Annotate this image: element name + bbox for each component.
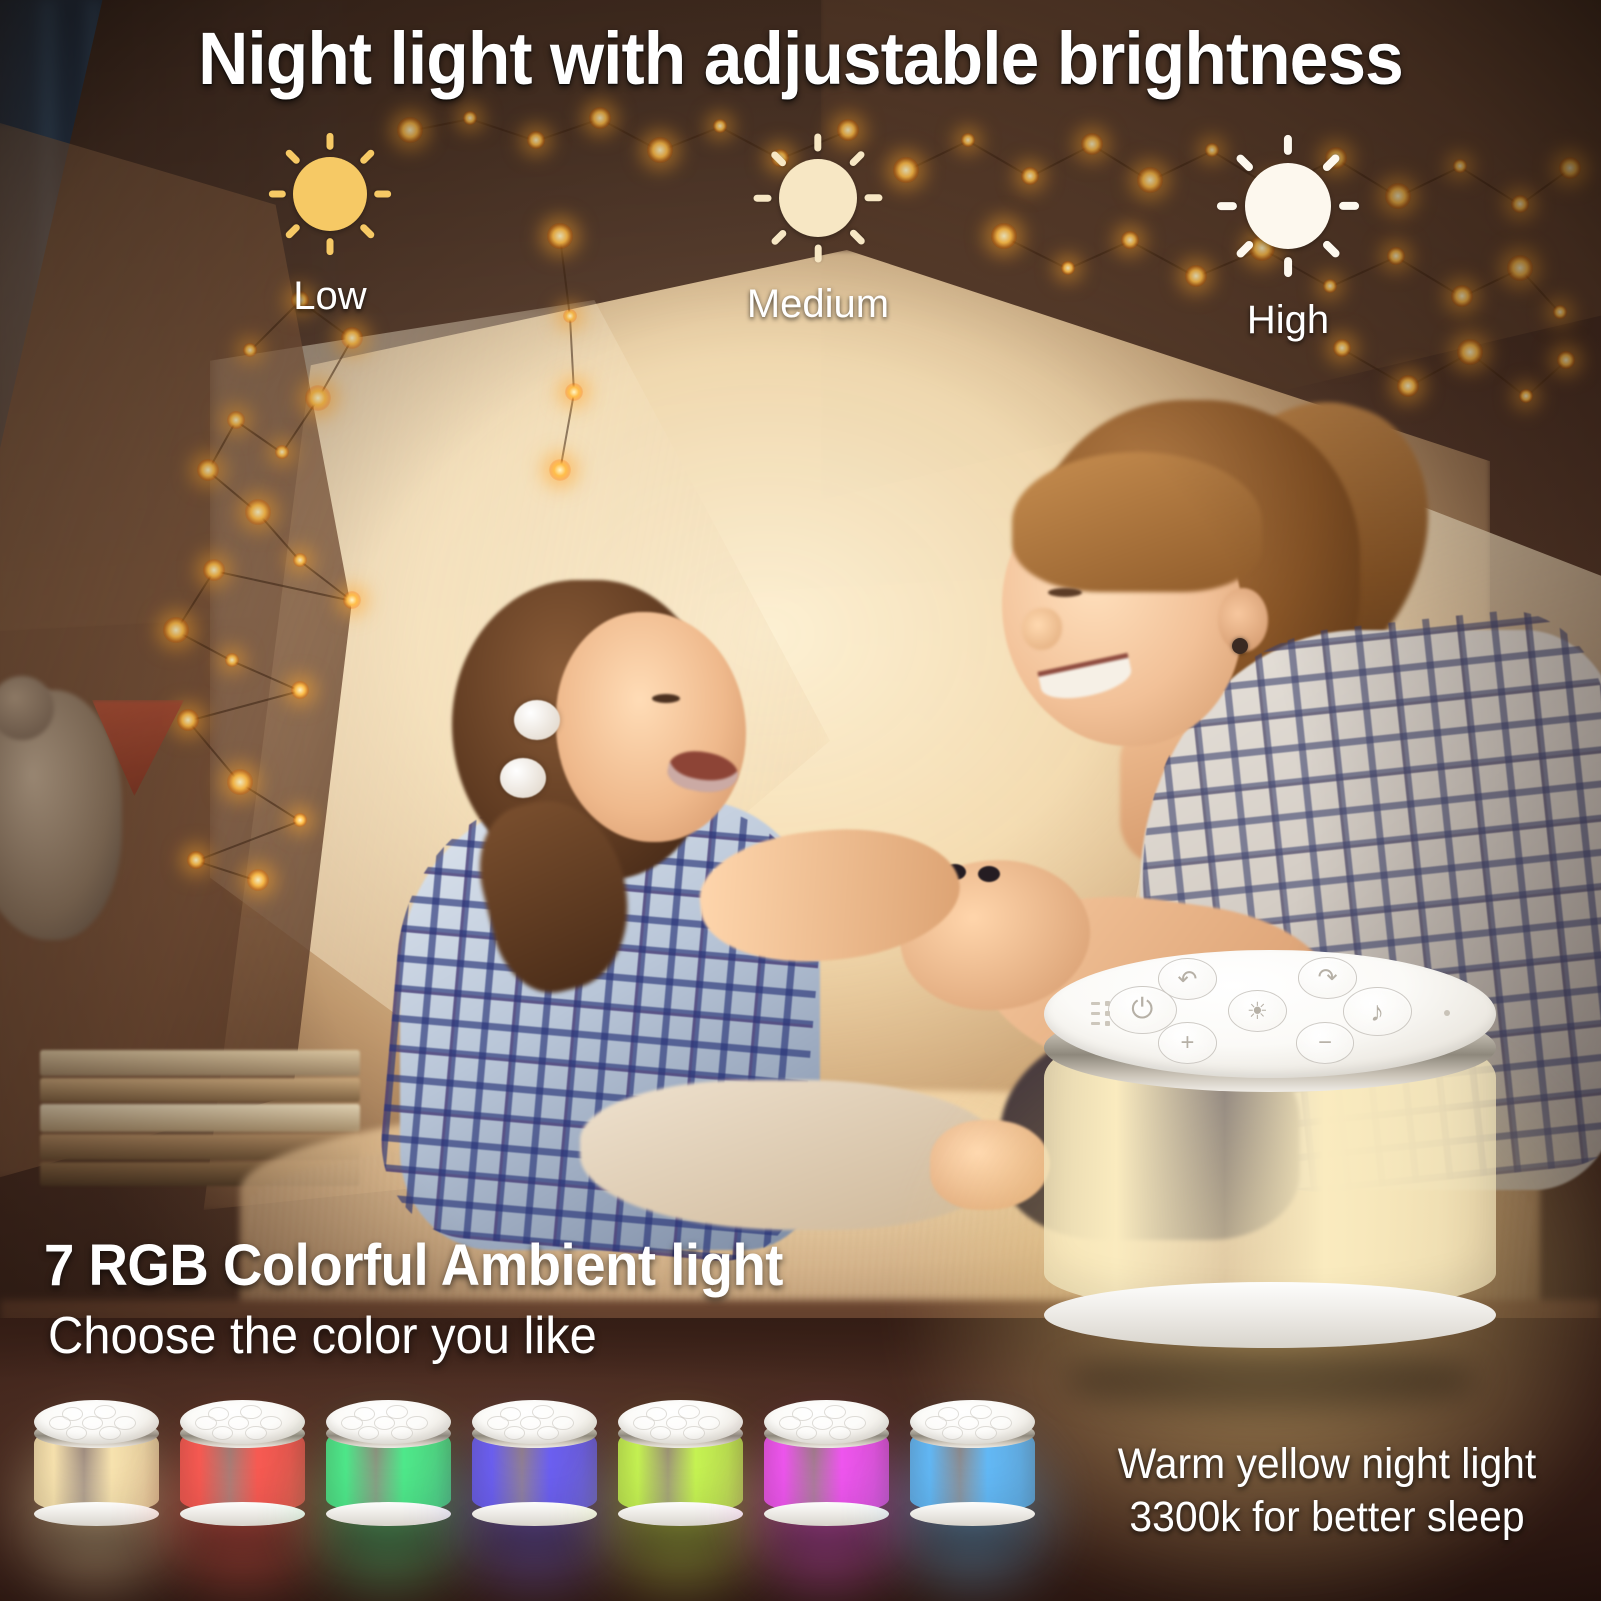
night-light-device-main: ↶ ↷ ⏻ ☀ ♪ + <box>1044 950 1496 1444</box>
device-base <box>1044 1282 1496 1348</box>
brightness-button[interactable]: ☀ <box>1228 990 1287 1032</box>
led-indicator-1 <box>1091 1001 1110 1006</box>
swatch-button-outline <box>537 1426 558 1440</box>
sun-ray <box>284 223 301 240</box>
color-swatch-lime[interactable] <box>618 1400 743 1560</box>
sun-ray <box>770 150 788 168</box>
mother-nail <box>978 866 1000 882</box>
device-shadow <box>915 1527 1030 1549</box>
sun-ray <box>865 194 883 201</box>
sun-ray <box>359 148 376 165</box>
rgb-section-title: 7 RGB Colorful Ambient light <box>44 1232 783 1299</box>
warm-light-caption: Warm yellow night light 3300k for better… <box>1075 1438 1579 1545</box>
child-hair-tie <box>500 758 546 798</box>
swatch-button-outline <box>975 1426 996 1440</box>
warm-caption-line-1: Warm yellow night light <box>1075 1438 1579 1491</box>
device-base <box>910 1502 1035 1526</box>
device-base <box>34 1502 159 1526</box>
sun-ray <box>754 194 772 201</box>
page-title: Night light with adjustable brightness <box>48 16 1553 101</box>
device-base <box>326 1502 451 1526</box>
device-base <box>180 1502 305 1526</box>
sleep-timer-icon: ♪ <box>1344 988 1411 1035</box>
string-light-bulb <box>247 869 269 891</box>
device-shadow <box>39 1527 154 1549</box>
swatch-button-outline <box>391 1426 412 1440</box>
brightness-icon: ☀ <box>1229 991 1286 1031</box>
string-light-bulb <box>549 459 571 481</box>
brightness-level-high[interactable]: High <box>1178 120 1398 343</box>
string-light-bulb <box>197 459 219 481</box>
string-light-bulb <box>305 385 331 411</box>
sun-ray <box>814 134 821 152</box>
color-swatch-green[interactable] <box>326 1400 451 1560</box>
brightness-level-low[interactable]: Low <box>220 120 440 319</box>
string-light-bulb <box>203 559 225 581</box>
string-light-bulb <box>565 383 583 401</box>
brightness-levels: Low Medium High <box>0 120 1601 320</box>
led-indicator-cluster <box>1091 1001 1110 1026</box>
sun-ray <box>374 190 391 197</box>
color-swatch-warm-yellow[interactable] <box>34 1400 159 1560</box>
sun-ray <box>814 245 821 263</box>
sun-ray <box>284 148 301 165</box>
color-swatch-red[interactable] <box>180 1400 305 1560</box>
sun-core <box>293 157 367 231</box>
string-light-bulb <box>275 445 289 459</box>
swatch-button-outline <box>829 1426 850 1440</box>
brightness-level-label: High <box>1178 298 1398 343</box>
string-light-bulb <box>227 411 245 429</box>
volume-up-icon: + <box>1159 1023 1216 1063</box>
device-shadow <box>331 1527 446 1549</box>
led-indicator-2 <box>1091 1011 1110 1016</box>
device-base <box>472 1502 597 1526</box>
sun-ray <box>1321 239 1341 259</box>
device-shadow <box>185 1527 300 1549</box>
mother-earring <box>1232 638 1248 654</box>
string-light-bulb <box>343 591 361 609</box>
color-swatch-magenta[interactable] <box>764 1400 889 1560</box>
string-light-bulb <box>1457 339 1483 365</box>
sun-ray <box>359 223 376 240</box>
string-light-bulb <box>187 851 205 869</box>
child-hair-tie <box>514 700 560 740</box>
sun-ray <box>848 150 866 168</box>
sun-ray <box>1284 135 1292 155</box>
string-light-bulb <box>293 813 307 827</box>
volume-down-icon: − <box>1297 1023 1354 1063</box>
swatch-button-outline <box>99 1426 120 1440</box>
brightness-level-label: Medium <box>708 282 928 327</box>
device-shadow <box>623 1527 738 1549</box>
volume-down-button[interactable]: − <box>1296 1022 1355 1064</box>
sun-core <box>779 159 857 237</box>
swatch-button-outline <box>245 1426 266 1440</box>
mother-eye <box>1048 588 1082 597</box>
device-shadow <box>769 1527 884 1549</box>
string-light-bulb <box>291 681 309 699</box>
string-light-bulb <box>1557 351 1575 369</box>
warm-caption-line-2: 3300k for better sleep <box>1075 1491 1579 1544</box>
string-light-bulb <box>243 343 257 357</box>
sun-ray <box>326 238 333 255</box>
brightness-level-medium[interactable]: Medium <box>708 120 928 327</box>
device-shadow <box>477 1527 592 1549</box>
color-swatch-sky-blue[interactable] <box>910 1400 1035 1560</box>
sun-ray <box>1339 202 1359 210</box>
string-light-bulb <box>163 617 189 643</box>
device-base <box>764 1502 889 1526</box>
sun-ray <box>326 133 333 150</box>
sun-ray <box>1235 153 1255 173</box>
sun-icon <box>1202 120 1374 292</box>
string-light-bulb <box>1397 375 1419 397</box>
rgb-section-subtitle: Choose the color you like <box>48 1306 597 1366</box>
string-light-bulb <box>177 709 199 731</box>
string-light-bulb <box>227 769 253 795</box>
sun-ray <box>848 228 866 246</box>
sun-ray <box>770 228 788 246</box>
string-light-bulb <box>225 653 239 667</box>
sun-ray <box>1321 153 1341 173</box>
mother-fringe <box>1012 452 1262 592</box>
string-light-bulb <box>1519 389 1533 403</box>
color-swatch-blue-violet[interactable] <box>472 1400 597 1560</box>
child-eye <box>652 694 680 703</box>
sun-core <box>1245 163 1331 249</box>
sun-ray <box>1284 257 1292 277</box>
sun-ray <box>1235 239 1255 259</box>
sun-ray <box>269 190 286 197</box>
sun-ray <box>1217 202 1237 210</box>
sun-icon <box>740 120 896 276</box>
sun-icon <box>256 120 404 268</box>
string-light-bulb <box>293 553 307 567</box>
led-indicator-3 <box>1091 1021 1110 1026</box>
brightness-level-label: Low <box>220 274 440 319</box>
volume-up-button[interactable]: + <box>1158 1022 1217 1064</box>
swatch-button-outline <box>683 1426 704 1440</box>
device-base <box>618 1502 743 1526</box>
product-marketing-image: Night light with adjustable brightness L… <box>0 0 1601 1601</box>
string-light-bulb <box>245 499 271 525</box>
string-light-bulb <box>341 327 363 349</box>
